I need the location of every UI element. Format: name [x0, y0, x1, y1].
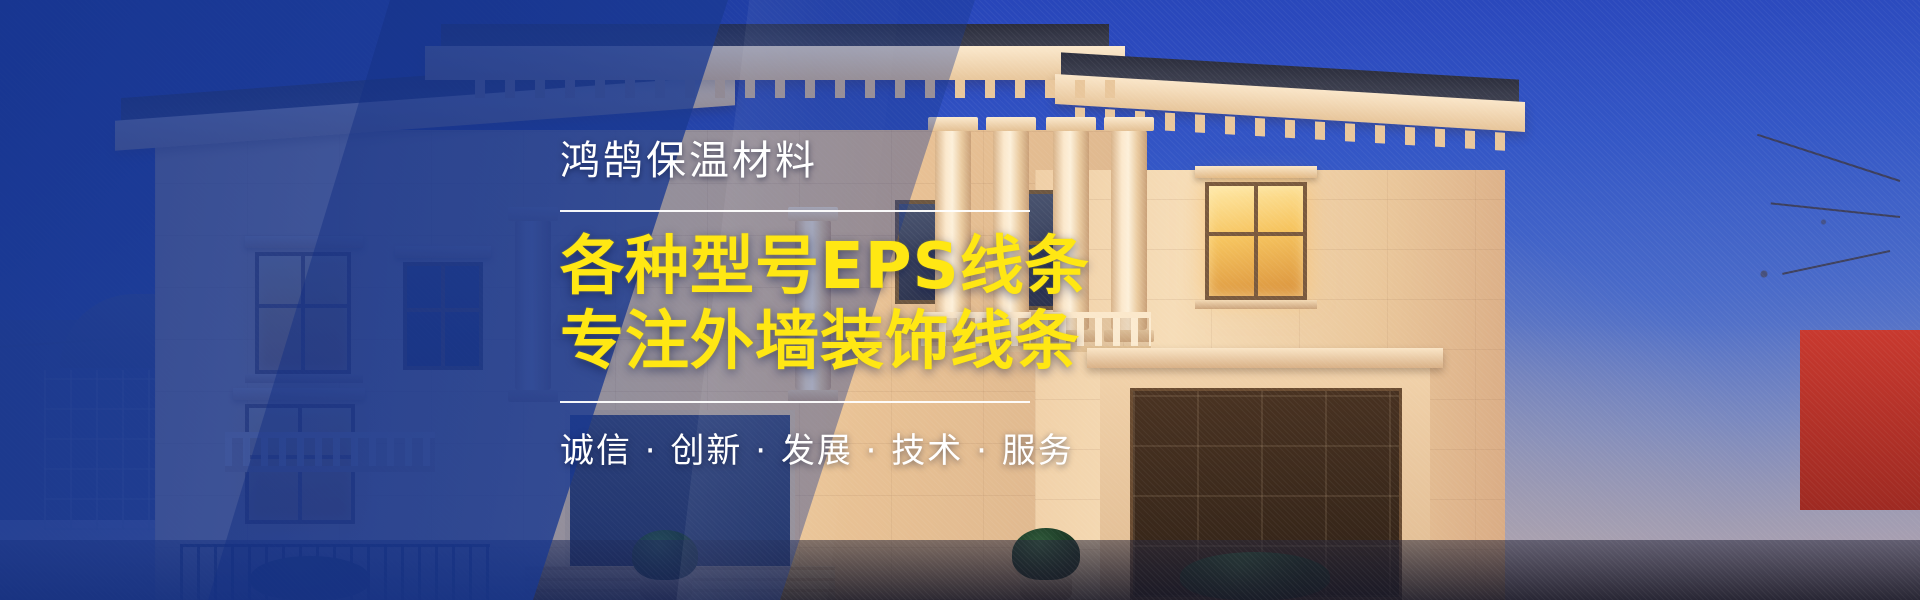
divider-bottom: [560, 401, 1030, 403]
column: [1111, 130, 1147, 330]
promo-banner: 鸿鹄保温材料 各种型号EPS线条 专注外墙装饰线条 诚信 · 创新 · 发展 ·…: [0, 0, 1920, 600]
company-name: 鸿鹄保温材料: [560, 128, 1090, 186]
tree-branch: [1730, 170, 1900, 300]
twig: [1782, 250, 1890, 275]
window-lit: [1205, 182, 1307, 300]
garage-lintel: [1087, 348, 1443, 368]
tagline: 诚信 · 创新 · 发展 · 技术 · 服务: [560, 423, 1090, 472]
window-mullion-h: [1209, 232, 1303, 236]
headline-line-2: 专注外墙装饰线条: [560, 305, 1090, 379]
red-container: [1800, 330, 1920, 510]
divider-top: [560, 210, 1030, 212]
window-mullion-v: [1254, 186, 1258, 296]
banner-content: 鸿鹄保温材料 各种型号EPS线条 专注外墙装饰线条 诚信 · 创新 · 发展 ·…: [560, 0, 1090, 600]
twig: [1771, 202, 1900, 218]
headline-line-1: 各种型号EPS线条: [560, 230, 1090, 304]
window-sill: [1195, 300, 1317, 309]
window-hood: [1195, 166, 1317, 178]
